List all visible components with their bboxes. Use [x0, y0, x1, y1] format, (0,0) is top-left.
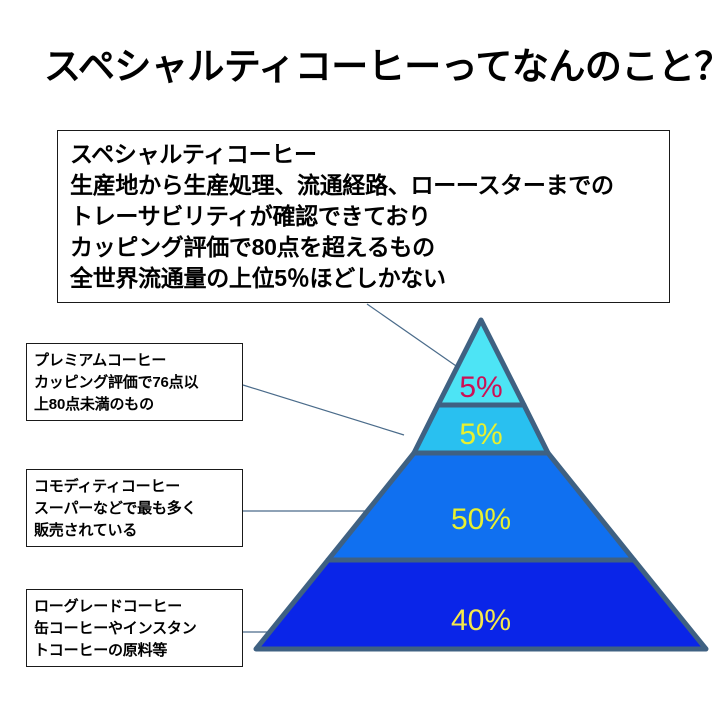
pyramid-tier-2-label: 5% — [459, 418, 502, 451]
infographic-canvas: スペシャルティコーヒーってなんのこと？ 5% 5% 50% 40% スペシャルテ… — [0, 0, 720, 720]
pyramid-tier-4-label: 40% — [451, 604, 511, 637]
pyramid-tier-3-label: 50% — [451, 503, 511, 536]
pyramid-tier-1-label: 5% — [459, 371, 502, 404]
pyramid-chart: 5% 5% 50% 40% — [0, 0, 720, 720]
